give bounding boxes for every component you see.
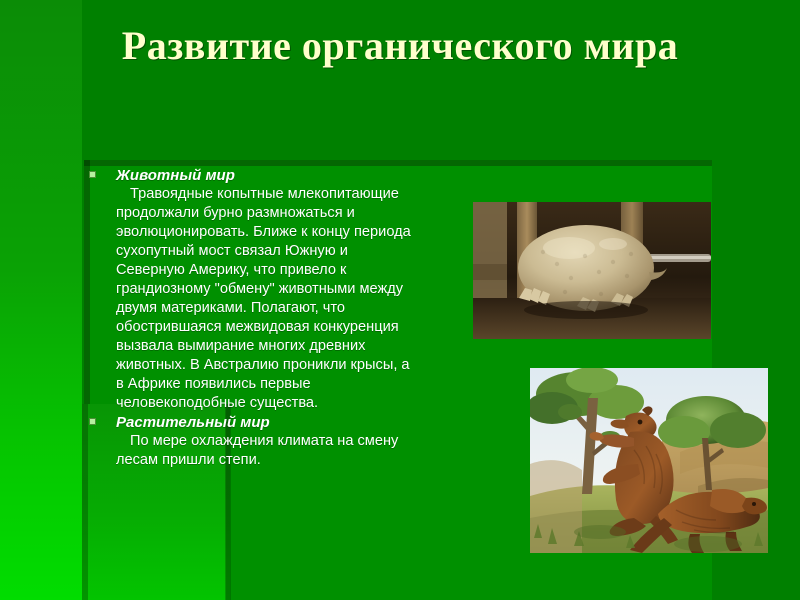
ground-sloth-illustration (530, 368, 768, 553)
square-bullet-icon (89, 171, 96, 178)
content-body: Животный мир Травоядные копытные млекопи… (86, 166, 416, 470)
bullet-item-fauna: Животный мир (86, 166, 416, 185)
glyptodont-photo-graphic (473, 202, 711, 339)
bullet-item-flora: Растительный мир (86, 413, 416, 432)
square-bullet-icon (89, 418, 96, 425)
bullet-heading-fauna: Животный мир (116, 166, 416, 185)
bullet-body-fauna: Травоядные копытные млекопитающие продол… (86, 185, 416, 413)
bullet-heading-flora: Растительный мир (116, 413, 416, 432)
background-stripe-left (0, 0, 82, 600)
slide: Развитие органического мира Животный мир… (0, 0, 800, 600)
glyptodont-photo (473, 202, 711, 339)
ground-sloth-illustration-graphic (530, 368, 768, 553)
slide-title: Развитие органического мира (0, 22, 800, 70)
bullet-body-flora: По мере охлаждения климата на смену леса… (86, 432, 416, 470)
